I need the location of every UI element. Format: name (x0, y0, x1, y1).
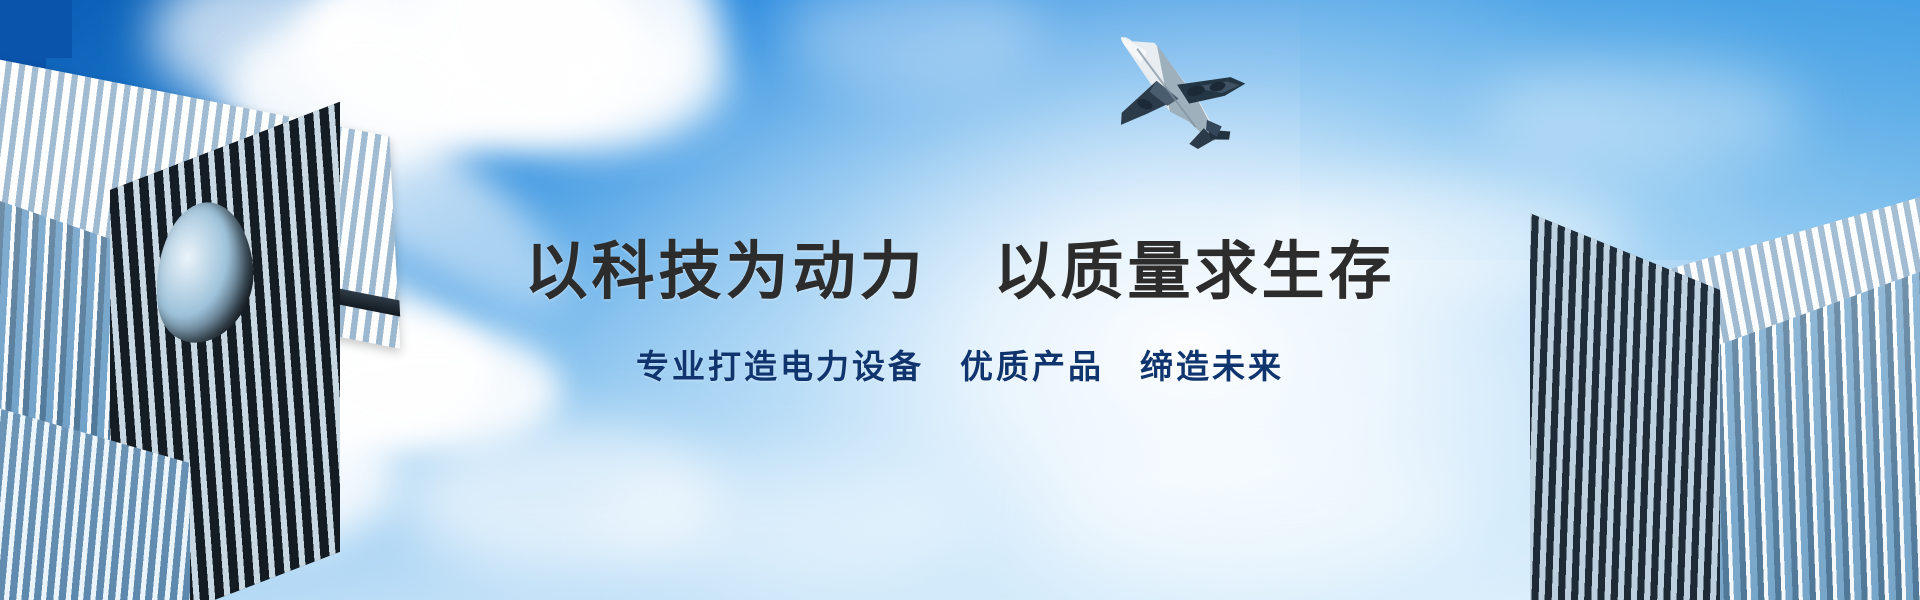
banner-subheadline: 专业打造电力设备 优质产品 缔造未来 (0, 340, 1920, 388)
cloud-shape (600, 460, 960, 590)
banner-headline: 以科技为动力 以质量求生存 (0, 236, 1920, 308)
banner-text-block: 以科技为动力 以质量求生存 专业打造电力设备 优质产品 缔造未来 (0, 236, 1920, 388)
cloud-shape (1480, 60, 1800, 170)
hero-banner: 以科技为动力 以质量求生存 专业打造电力设备 优质产品 缔造未来 (0, 0, 1920, 600)
airplane-icon (1093, 10, 1278, 177)
cloud-shape (520, 20, 730, 140)
cloud-shape (1050, 440, 1470, 580)
